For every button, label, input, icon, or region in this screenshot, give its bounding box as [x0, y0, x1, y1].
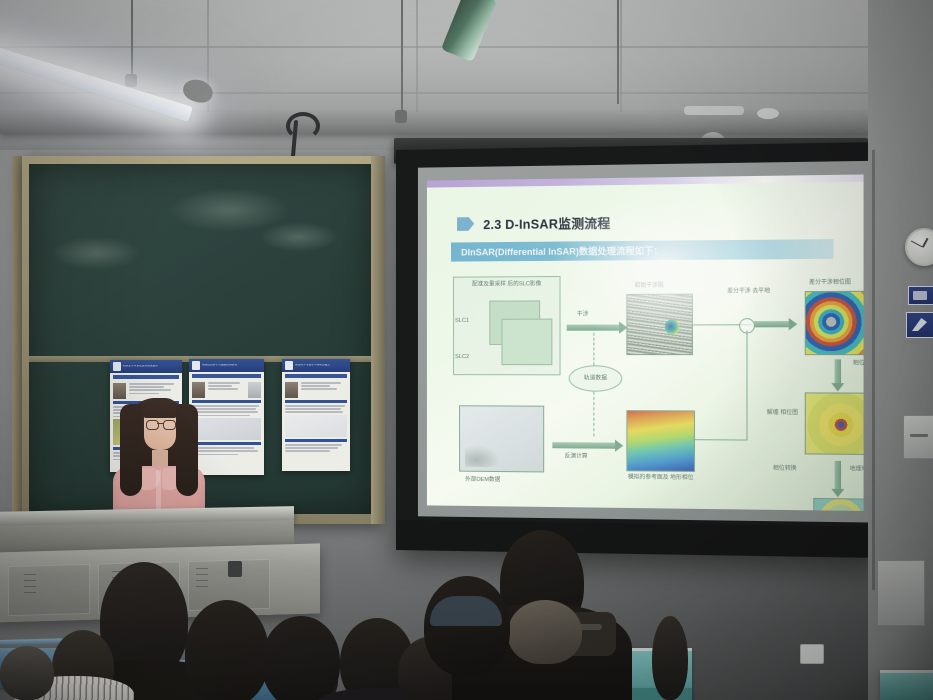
fringe-center — [665, 320, 679, 335]
unwrapped-phase-image — [805, 392, 864, 455]
audience-head — [262, 616, 340, 700]
poster-header: 地理信息科学与遥感应用研究 — [189, 359, 264, 372]
poster-title: 研究生学术论坛优秀成果展示 — [123, 365, 158, 368]
differential-interferogram-image — [805, 291, 864, 355]
lecture-hall-scene: 研究生学术论坛优秀成果展示 地理信息科学与遥感应用研究 — [0, 0, 933, 700]
simulated-phase-label: 模拟的参考面及 地形相位 — [624, 473, 697, 482]
student-desk — [880, 670, 933, 700]
insar-flowchart: 配准及重采样 后的SLC影像 SLC1 SLC2 干涉 轨道数据 初始干 — [445, 266, 851, 503]
poster-subbar — [192, 374, 261, 378]
poster-figure — [285, 415, 347, 437]
poster-section-bar — [285, 439, 347, 442]
poster-body — [189, 380, 264, 459]
slide-subtitle-text: DInSAR(Differential InSAR)数据处理流程如下： — [461, 244, 663, 259]
ceiling-knob — [757, 108, 779, 119]
ceiling-seam — [416, 0, 418, 112]
light-switch-panel[interactable] — [903, 415, 933, 459]
audience-head — [652, 616, 688, 700]
wall-seam — [872, 150, 875, 590]
deformation-map-image — [813, 498, 863, 511]
slc1-label: SLC1 — [455, 317, 469, 325]
cabinet-panel — [8, 564, 90, 616]
poster-section-bar — [285, 400, 347, 403]
baseball-cap — [430, 596, 502, 626]
edge-label-phase-convert: 相位转换 — [773, 464, 797, 473]
poster-author-block — [192, 382, 261, 398]
glasses-left-lens-icon — [146, 420, 159, 430]
dashed-link-upper — [593, 333, 594, 366]
dashed-link-lower — [593, 392, 594, 437]
slide-title: 2.3 D-InSAR监测流程 — [483, 213, 610, 234]
projection-screen: 2.3 D-InSAR监测流程 DInSAR(Differential InSA… — [396, 142, 883, 558]
audience-head — [424, 576, 510, 676]
ceiling-seam — [620, 0, 622, 112]
external-dem-label: 外部DEM数据 — [465, 476, 500, 485]
slc2-label: SLC2 — [455, 353, 469, 361]
orbit-data-node: 轨道数据 — [569, 365, 623, 392]
poster-header: 研究生学术论坛优秀成果展示 — [110, 360, 182, 373]
poster-section-bar — [192, 400, 261, 403]
ceiling-hanger-rod — [131, 0, 133, 76]
sign-glyph-icon — [913, 291, 927, 300]
ceiling-duct-fitting — [684, 106, 744, 115]
poster-subbar — [113, 375, 179, 379]
connector-h-sim — [693, 439, 748, 440]
poster-body — [282, 380, 350, 456]
university-logo-icon — [192, 361, 200, 370]
university-logo-icon — [285, 361, 293, 370]
audience-hair-light — [508, 600, 582, 664]
edge-label-differencing: 差分干涉 去平地 — [720, 287, 777, 296]
cabinet-handle[interactable] — [228, 561, 242, 577]
sign-caption: 消防栓使用说明 — [905, 340, 926, 344]
poster-subbar — [285, 374, 347, 378]
poster-header: 测绘科学与技术学科前沿报告 — [282, 359, 350, 372]
edge-label-geocode: 地理编码 — [850, 465, 864, 474]
author-photo — [113, 383, 126, 399]
author-photo — [285, 382, 298, 398]
blackboard-right-trim — [371, 156, 385, 524]
slide-title-row: 2.3 D-InSAR监测流程 — [457, 213, 610, 234]
arrow-geocode — [835, 461, 841, 490]
clock-minute-hand — [911, 240, 923, 247]
presenter-hair-right — [176, 404, 198, 496]
external-dem-image — [459, 405, 544, 472]
presentation-slide: 2.3 D-InSAR监测流程 DInSAR(Differential InSA… — [427, 174, 864, 511]
qr-placeholder — [248, 382, 261, 398]
fire-hydrant-glyph-icon — [912, 318, 927, 331]
unwrapped-phase-label: 解缠 相位图 — [764, 409, 800, 418]
chalk-smudge — [51, 236, 141, 270]
presenter-fringe — [141, 398, 179, 418]
arrow-inversion — [552, 442, 616, 449]
glasses-right-lens-icon — [163, 420, 176, 430]
orbit-data-label: 轨道数据 — [584, 374, 607, 383]
poster-figure — [192, 418, 261, 440]
initial-interferogram-image — [626, 294, 693, 355]
chalk-smudge — [259, 222, 339, 252]
poster-author-block — [285, 382, 347, 398]
edge-label-unwrap: 相位 解缠 — [847, 359, 863, 368]
arrow-interfere — [567, 325, 620, 331]
edge-label-interfere: 干涉 — [577, 310, 589, 319]
blue-notice-sign-upper — [908, 286, 933, 305]
ceiling-hanger-knob — [125, 74, 137, 87]
presenter-hair-left — [120, 404, 142, 496]
wall-outlet-box[interactable] — [877, 560, 925, 626]
research-poster: 地理信息科学与遥感应用研究 — [189, 359, 264, 475]
differential-interferogram-label: 差分干涉相位图 — [809, 278, 851, 287]
power-outlet[interactable] — [800, 644, 824, 664]
audience-head — [0, 646, 54, 700]
blue-notice-sign-lower — [906, 312, 933, 338]
poster-title: 测绘科学与技术学科前沿报告 — [295, 364, 330, 367]
arrow-to-differential — [754, 321, 790, 327]
ceiling-hanger-rod — [401, 0, 403, 112]
author-photo — [192, 382, 205, 398]
slc-group-label: 配准及重采样 后的SLC影像 — [471, 280, 542, 289]
arrow-unwrap — [835, 359, 841, 384]
poster-section-bar — [192, 442, 261, 445]
poster-title: 地理信息科学与遥感应用研究 — [202, 364, 237, 367]
microphone-hook-icon — [286, 112, 320, 140]
university-logo-icon — [113, 362, 121, 371]
connector-v-sim — [746, 330, 747, 440]
switch-rocker[interactable] — [910, 434, 928, 437]
slc2-image — [501, 319, 552, 366]
student-desk-edge — [880, 670, 933, 673]
slide-subtitle-bar: DInSAR(Differential InSAR)数据处理流程如下： — [451, 239, 834, 261]
ceiling-beam — [0, 112, 933, 134]
chevron-bullet-icon — [457, 217, 474, 231]
ceiling-hanger-knob — [395, 110, 407, 123]
ceiling-hanger-rod — [617, 0, 619, 104]
poster-author-block — [113, 383, 179, 399]
research-poster: 测绘科学与技术学科前沿报告 — [282, 359, 350, 471]
audience-head — [185, 600, 269, 700]
glasses-bridge-icon — [157, 423, 163, 424]
edge-label-inversion: 反演计算 — [565, 452, 588, 461]
simulated-phase-image — [626, 410, 695, 472]
initial-interferogram-label: 初始干涉图 — [635, 282, 664, 291]
